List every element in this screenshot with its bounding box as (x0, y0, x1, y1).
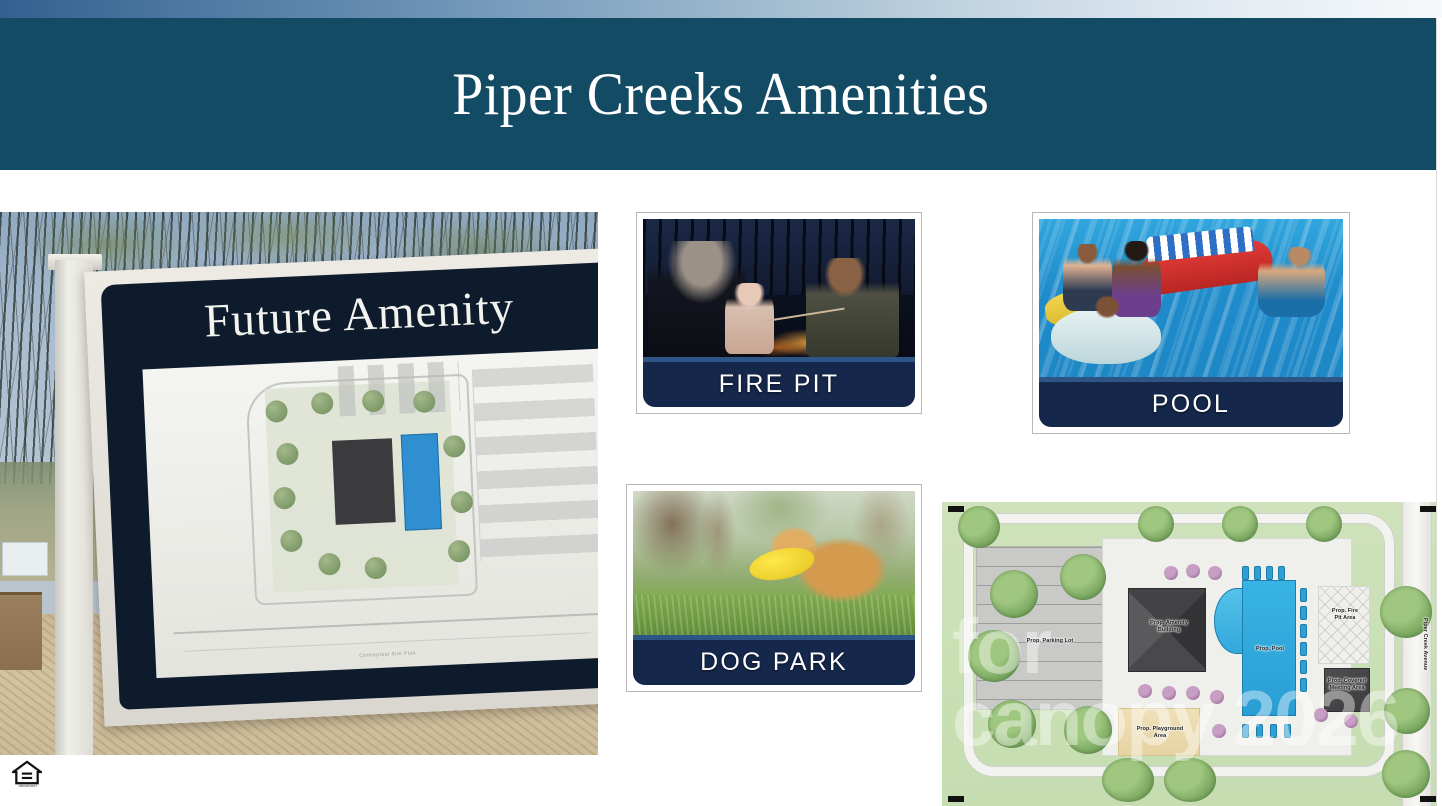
amenity-card-firepit[interactable]: FIRE PIT (636, 212, 922, 414)
pool-lounger (1300, 588, 1307, 602)
plan-caption: Conceptual Site Plan (156, 641, 598, 668)
firepit-photo (643, 219, 915, 357)
pool-lounger (1266, 566, 1273, 580)
site-shrub (1314, 708, 1328, 722)
site-shrub (1162, 686, 1176, 700)
site-shrub (1208, 566, 1222, 580)
top-gradient-strip (0, 0, 1442, 18)
sign-site-plan-drawing: Conceptual Site Plan (142, 348, 598, 678)
card-label-text: POOL (1152, 390, 1230, 419)
label-creek-road: Piper Creek Avenue (1421, 618, 1428, 670)
equal-housing-logo-text: EQUAL HOUSING OPPORTUNITY (8, 783, 48, 789)
retaining-wall (0, 592, 42, 670)
site-tree (1382, 750, 1430, 798)
label-parking-lot: Prop. Parking Lot (1004, 638, 1096, 645)
site-shrub (1186, 564, 1200, 578)
plan-pool (401, 433, 442, 530)
person-child (725, 283, 774, 355)
registration-mark (948, 506, 964, 512)
site-shrub (1344, 714, 1358, 728)
pool-lounger (1300, 678, 1307, 692)
label-covered-meeting-area: Prop. Covered Meeting Area (1322, 678, 1372, 692)
site-shrub (1210, 690, 1224, 704)
registration-mark (1420, 506, 1436, 512)
sign-board-face: Future Amenity (101, 262, 598, 710)
site-tree (1164, 758, 1216, 802)
site-shrub (1138, 684, 1152, 698)
dogpark-photo (633, 491, 915, 635)
pool-lounger (1242, 566, 1249, 580)
site-tree (1060, 554, 1106, 600)
label-pool: Prop. Pool (1246, 646, 1294, 653)
plan-top-buildings (337, 361, 460, 416)
label-fire-pit-area: Prop. Fire Pit Area (1322, 608, 1368, 622)
amenity-card-pool[interactable]: POOL (1032, 212, 1350, 434)
card-label-text: DOG PARK (700, 648, 848, 677)
pool-lounger (1300, 606, 1307, 620)
pool-lounger (1278, 566, 1285, 580)
card-label-text: FIRE PIT (719, 370, 839, 399)
card-inner: POOL (1039, 219, 1343, 427)
site-tree (1138, 506, 1174, 542)
pool-photo (1039, 219, 1343, 377)
pool-lounger (1242, 724, 1249, 738)
pool-lounger (1256, 724, 1263, 738)
card-label-bar: FIRE PIT (643, 357, 915, 407)
swimmer-4 (1258, 247, 1325, 317)
pool-lounger (1284, 724, 1291, 738)
pool-lounger (1300, 660, 1307, 674)
pool-lounger (1270, 724, 1277, 738)
swimmer-3 (1082, 292, 1143, 346)
page-title: Piper Creeks Amenities (452, 64, 989, 124)
registration-mark (948, 796, 964, 802)
plan-creek-line (173, 613, 598, 634)
amenity-site-plan: for canopy 2026 Prop. Parking Lot Prop. … (942, 502, 1442, 806)
site-shrub (1186, 686, 1200, 700)
site-tree (990, 570, 1038, 618)
pool-lounger (1300, 642, 1307, 656)
card-inner: DOG PARK (633, 491, 915, 685)
site-tree (1222, 506, 1258, 542)
label-amenity-building: Prop. Amenity Building (1140, 620, 1198, 634)
person-woman (806, 258, 898, 357)
site-tree (1064, 706, 1112, 754)
registration-mark (1420, 796, 1436, 802)
site-fire-pit-area (1318, 586, 1370, 664)
label-playground-area: Prop. Playground Area (1124, 726, 1196, 740)
site-tree (1306, 506, 1342, 542)
site-tree (958, 506, 1000, 548)
small-background-sign (2, 542, 48, 576)
site-tree (1102, 758, 1154, 802)
plan-lot-rows (472, 364, 598, 561)
slide-header-banner: Piper Creeks Amenities (0, 18, 1442, 170)
card-inner: FIRE PIT (643, 219, 915, 407)
sign-title: Future Amenity (101, 276, 598, 353)
card-label-bar: DOG PARK (633, 635, 915, 685)
slide-root: Piper Creeks Amenities Future Amenity (0, 0, 1442, 806)
site-tree (1384, 688, 1430, 734)
site-tree (988, 700, 1036, 748)
pool-lounger (1300, 624, 1307, 638)
future-amenity-sign-photo: Future Amenity (0, 212, 598, 755)
slide-right-edge (1436, 18, 1442, 806)
card-label-bar: POOL (1039, 377, 1343, 427)
site-shrub (1164, 566, 1178, 580)
plan-amenity-building (332, 439, 396, 525)
sign-board: Future Amenity (84, 248, 598, 727)
amenity-card-dogpark[interactable]: DOG PARK (626, 484, 922, 692)
pool-lounger (1254, 566, 1261, 580)
site-shrub (1212, 724, 1226, 738)
